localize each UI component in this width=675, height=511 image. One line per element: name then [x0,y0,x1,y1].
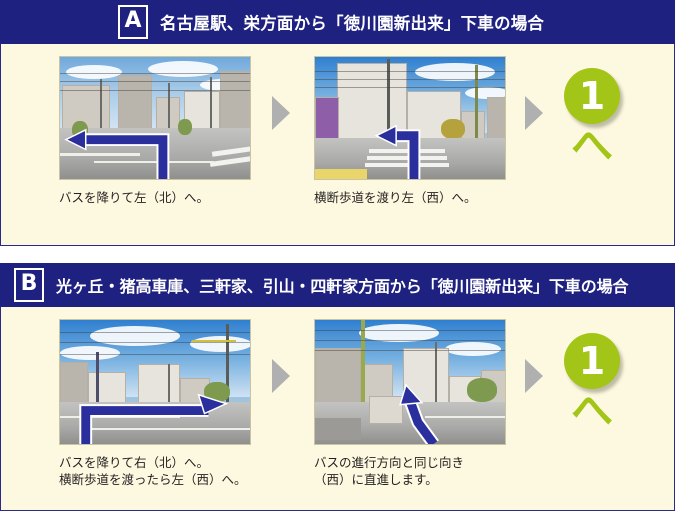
panel-a-step-1-caption: バスを降りて左（北）へ。 [59,189,251,206]
panel-b-step-2-route-arrow [315,320,505,444]
badge-number: 1 [564,68,620,124]
panel-b-next-badge: 1 へ [555,333,629,431]
panel-a-body: バスを降りて左（北）へ。 [0,44,675,246]
panel-a-step-2: 横断歩道を渡り左（西）へ。 [314,56,506,206]
panel-b-header: B 光ヶ丘・猪高車庫、三軒家、引山・四軒家方面から「徳川園新出来」下車の場合 [0,263,675,307]
panel-a-step-2-photo [314,56,506,180]
panel-a-header: A 名古屋駅、栄方面から「徳川園新出来」下車の場合 [0,0,675,44]
arrow-separator-icon [525,96,543,130]
panel-b-step-1-photo [59,319,251,445]
arrow-separator-icon [525,359,543,393]
panel-b-body: バスを降りて右（北）へ。 横断歩道を渡ったら左（西）へ。 [0,307,675,511]
badge-suffix: へ [555,126,629,166]
panel-a-step-2-route-arrow [315,57,505,179]
panel-b-title: 光ヶ丘・猪高車庫、三軒家、引山・四軒家方面から「徳川園新出来」下車の場合 [56,273,628,297]
route-guide-page: A 名古屋駅、栄方面から「徳川園新出来」下車の場合 [0,0,675,511]
badge-suffix: へ [555,391,629,431]
panel-a-next-badge: 1 へ [555,68,629,166]
panel-b-step-1-route-arrow [60,320,250,444]
panel-b-step-2-caption: バスの進行方向と同じ向き （西）に直進します。 [314,454,506,488]
panel-b-step-2: バスの進行方向と同じ向き （西）に直進します。 [314,319,506,488]
panel-b-step-1: バスを降りて右（北）へ。 横断歩道を渡ったら左（西）へ。 [59,319,251,488]
panel-a-title: 名古屋駅、栄方面から「徳川園新出来」下車の場合 [160,10,544,34]
panel-a-letter-badge: A [118,5,148,39]
panel-b-step-1-caption: バスを降りて右（北）へ。 横断歩道を渡ったら左（西）へ。 [59,454,251,488]
panel-b-letter-badge: B [14,268,44,302]
panel-a-step-1-route-arrow [60,57,250,179]
panel-a: A 名古屋駅、栄方面から「徳川園新出来」下車の場合 [0,0,675,246]
arrow-separator-icon [272,359,290,393]
panel-b-steps: バスを降りて右（北）へ。 横断歩道を渡ったら左（西）へ。 [1,307,674,510]
panel-a-step-2-caption: 横断歩道を渡り左（西）へ。 [314,189,506,206]
arrow-separator-icon [272,96,290,130]
panel-b-step-2-photo [314,319,506,445]
panel-a-step-1: バスを降りて左（北）へ。 [59,56,251,206]
panel-a-steps: バスを降りて左（北）へ。 [1,44,674,245]
panel-a-step-1-photo [59,56,251,180]
panel-b: B 光ヶ丘・猪高車庫、三軒家、引山・四軒家方面から「徳川園新出来」下車の場合 [0,263,675,511]
badge-number: 1 [564,333,620,389]
